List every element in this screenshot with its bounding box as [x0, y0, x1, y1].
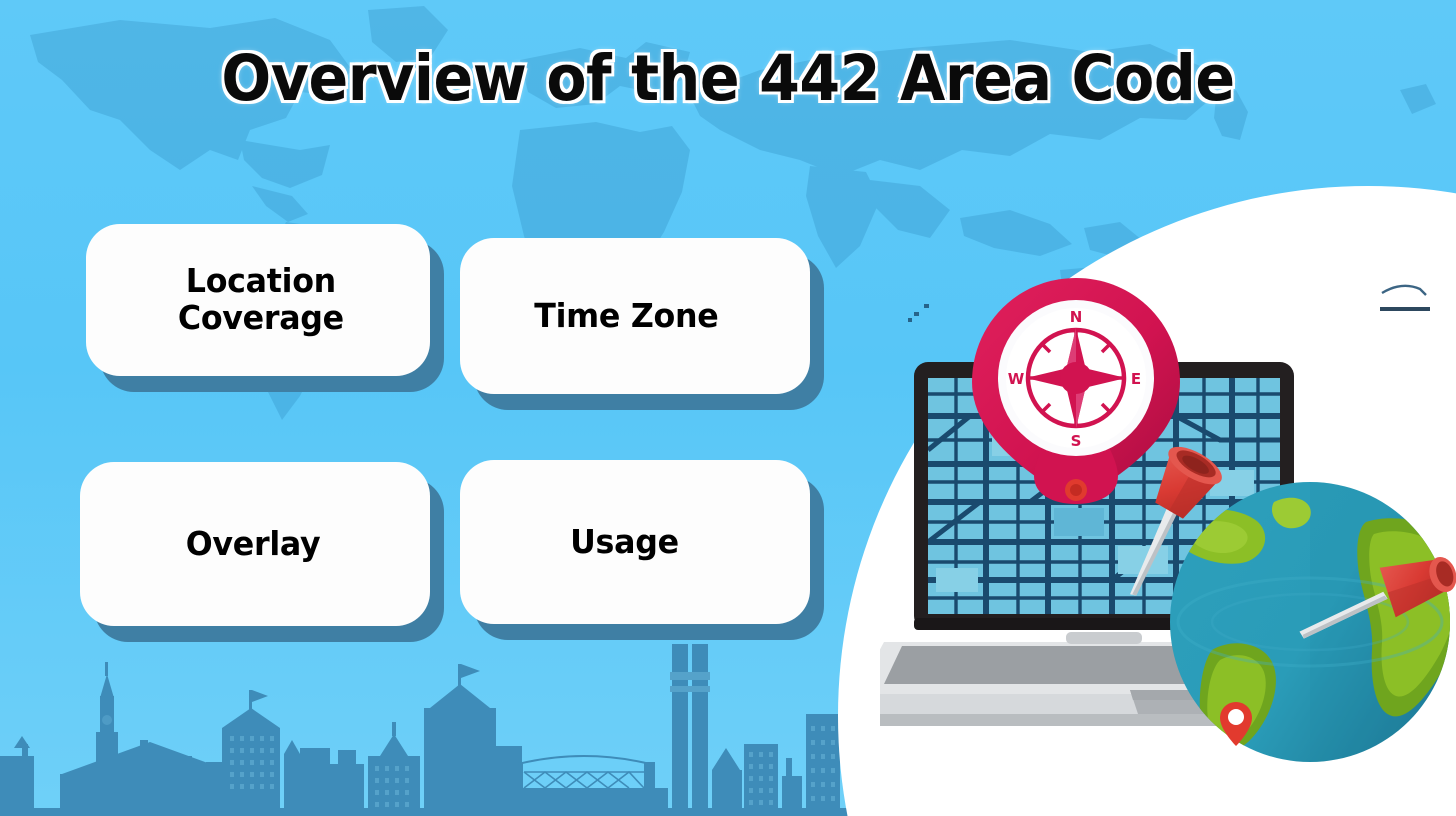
card-location-coverage[interactable]: Location Coverage: [86, 224, 430, 376]
globe: [1170, 482, 1456, 762]
card-label-time-zone: Time Zone: [467, 298, 803, 335]
card-overlay[interactable]: Overlay: [80, 462, 430, 626]
card-line-1: Location: [99, 263, 423, 300]
card-line-2: Coverage: [99, 300, 423, 337]
card-time-zone[interactable]: Time Zone: [460, 238, 810, 394]
card-label-overlay: Overlay: [87, 526, 423, 563]
card-label-location-coverage: Location Coverage: [93, 263, 423, 337]
page-title: Overview of the 442 Area Code: [51, 42, 1405, 115]
compass-label-east: E: [1131, 370, 1141, 388]
card-usage[interactable]: Usage: [460, 460, 810, 624]
infographic-canvas: Overview of the 442 Area Code Location C…: [0, 0, 1456, 816]
compass-label-west: W: [1008, 370, 1025, 388]
card-label-usage: Usage: [467, 524, 803, 561]
compass-label-north: N: [1070, 308, 1083, 326]
illustration-laptop-map-globe: N E S W: [880, 250, 1456, 770]
compass-label-south: S: [1071, 432, 1082, 450]
